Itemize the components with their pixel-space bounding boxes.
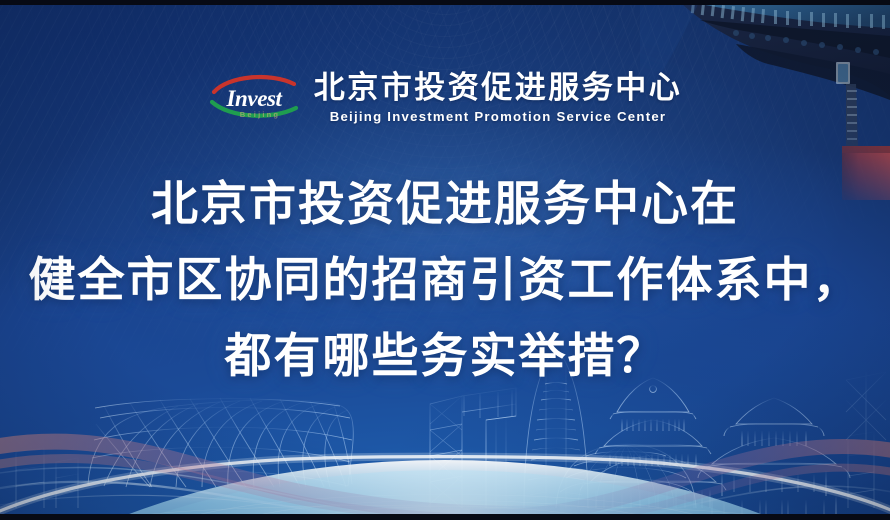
headline-line-3: 都有哪些务实举措？: [14, 318, 876, 394]
headline-line-1: 北京市投资促进服务中心在: [14, 166, 876, 242]
organization-name-en: Beijing Investment Promotion Service Cen…: [330, 109, 667, 124]
organization-logo-bar: Invest Beijing 北京市投资促进服务中心 Beijing Inves…: [0, 72, 890, 124]
invest-swoosh-logo-icon: Invest Beijing: [208, 72, 300, 124]
svg-text:Beijing: Beijing: [240, 110, 280, 119]
letterbox-bar-bottom: [0, 514, 890, 520]
organization-name-cn: 北京市投资促进服务中心: [314, 72, 683, 105]
promotional-poster: Invest Beijing 北京市投资促进服务中心 Beijing Inves…: [0, 0, 890, 520]
organization-name-block: 北京市投资促进服务中心 Beijing Investment Promotion…: [314, 72, 683, 124]
headline-block: 北京市投资促进服务中心在 健全市区协同的招商引资工作体系中， 都有哪些务实举措？: [0, 166, 890, 394]
letterbox-bar-top: [0, 0, 890, 5]
svg-text:Invest: Invest: [225, 86, 282, 111]
headline-line-2: 健全市区协同的招商引资工作体系中，: [14, 242, 876, 318]
